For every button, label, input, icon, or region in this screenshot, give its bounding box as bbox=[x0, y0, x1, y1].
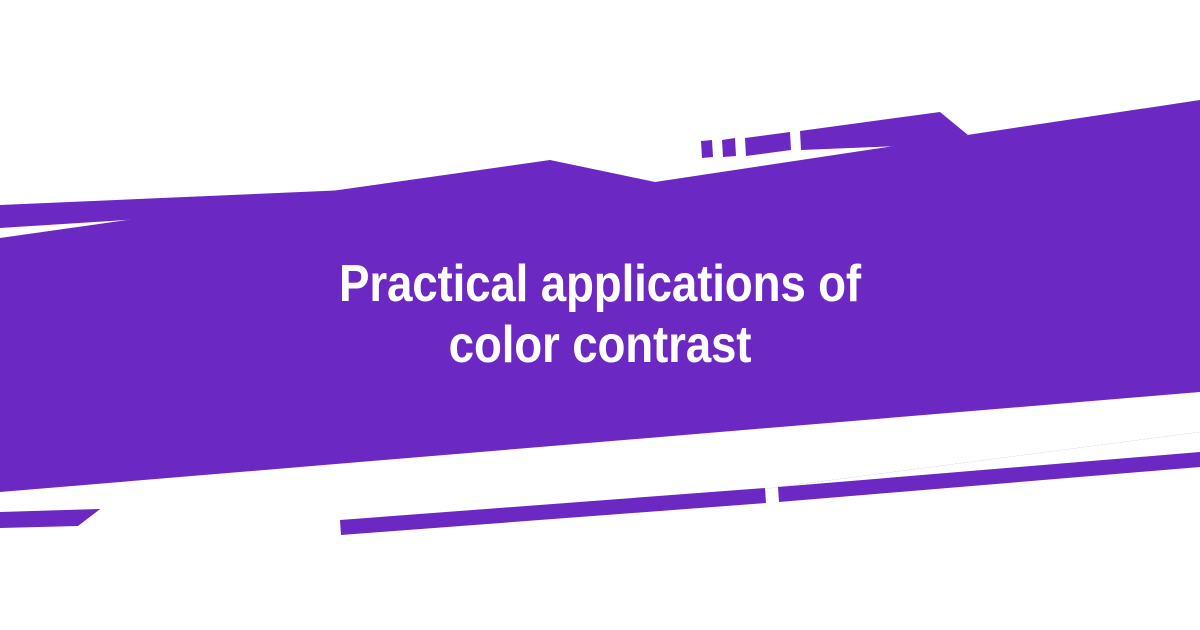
banner-artwork bbox=[0, 0, 1200, 630]
dash-mark-narrow bbox=[722, 138, 736, 157]
dash-mark-medium bbox=[745, 132, 791, 156]
dash-mark-square bbox=[701, 140, 713, 158]
banner-graphic: Practical applications of color contrast bbox=[0, 0, 1200, 630]
